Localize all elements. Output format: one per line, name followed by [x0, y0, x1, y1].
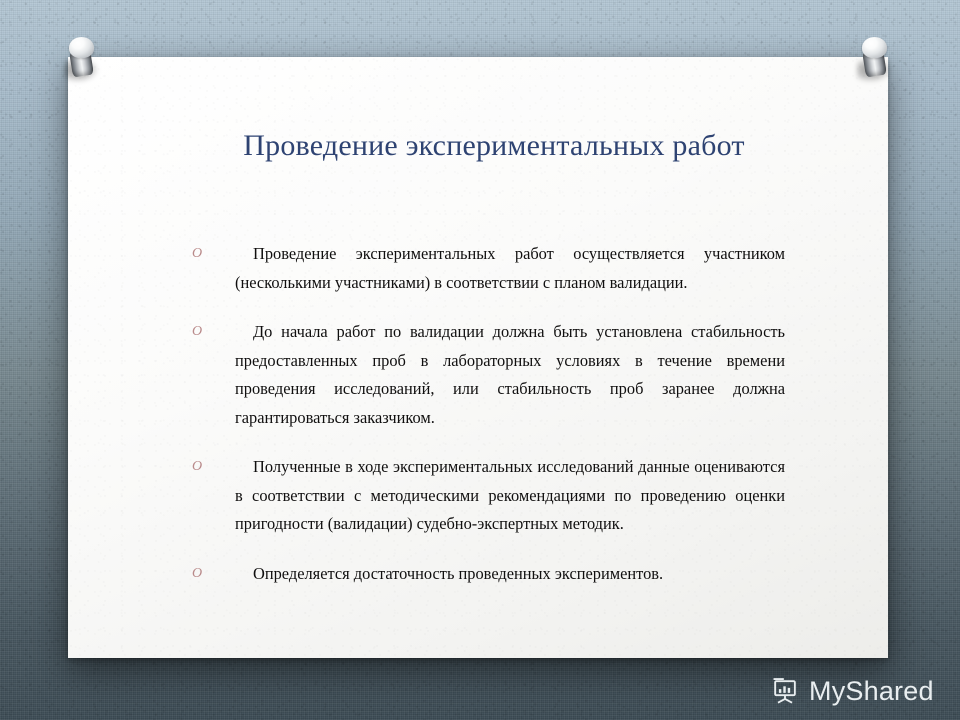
myshared-watermark: MyShared — [770, 676, 934, 706]
list-item: O Проведение экспериментальных работ осу… — [185, 240, 785, 297]
presentation-slide: Проведение экспериментальных работ O Про… — [68, 57, 888, 658]
bullet-o-icon: O — [192, 453, 214, 482]
push-pin-head — [69, 37, 94, 58]
list-item-text: Проведение экспериментальных работ осуще… — [235, 244, 785, 292]
list-item-text: До начала работ по валидации должна быть… — [235, 322, 785, 427]
bullet-o-icon: O — [192, 240, 214, 269]
push-pin-head — [862, 37, 887, 58]
list-item: O Определяется достаточность проведенных… — [185, 560, 785, 589]
slide-title: Проведение экспериментальных работ — [174, 129, 814, 164]
push-pin-right — [855, 34, 895, 90]
bullet-o-icon: O — [192, 318, 214, 347]
myshared-wordmark: MyShared — [809, 678, 934, 705]
list-item-text: Полученные в ходе экспериментальных иссл… — [235, 457, 785, 533]
bullet-o-icon: O — [192, 560, 214, 589]
list-item-text: Определяется достаточность проведенных э… — [253, 564, 663, 583]
slide-body-list: O Проведение экспериментальных работ осу… — [185, 224, 785, 588]
presentation-chart-icon — [770, 676, 800, 706]
push-pin-left — [62, 34, 102, 90]
list-item: O До начала работ по валидации должна бы… — [185, 318, 785, 432]
list-item: O Полученные в ходе экспериментальных ис… — [185, 453, 785, 539]
